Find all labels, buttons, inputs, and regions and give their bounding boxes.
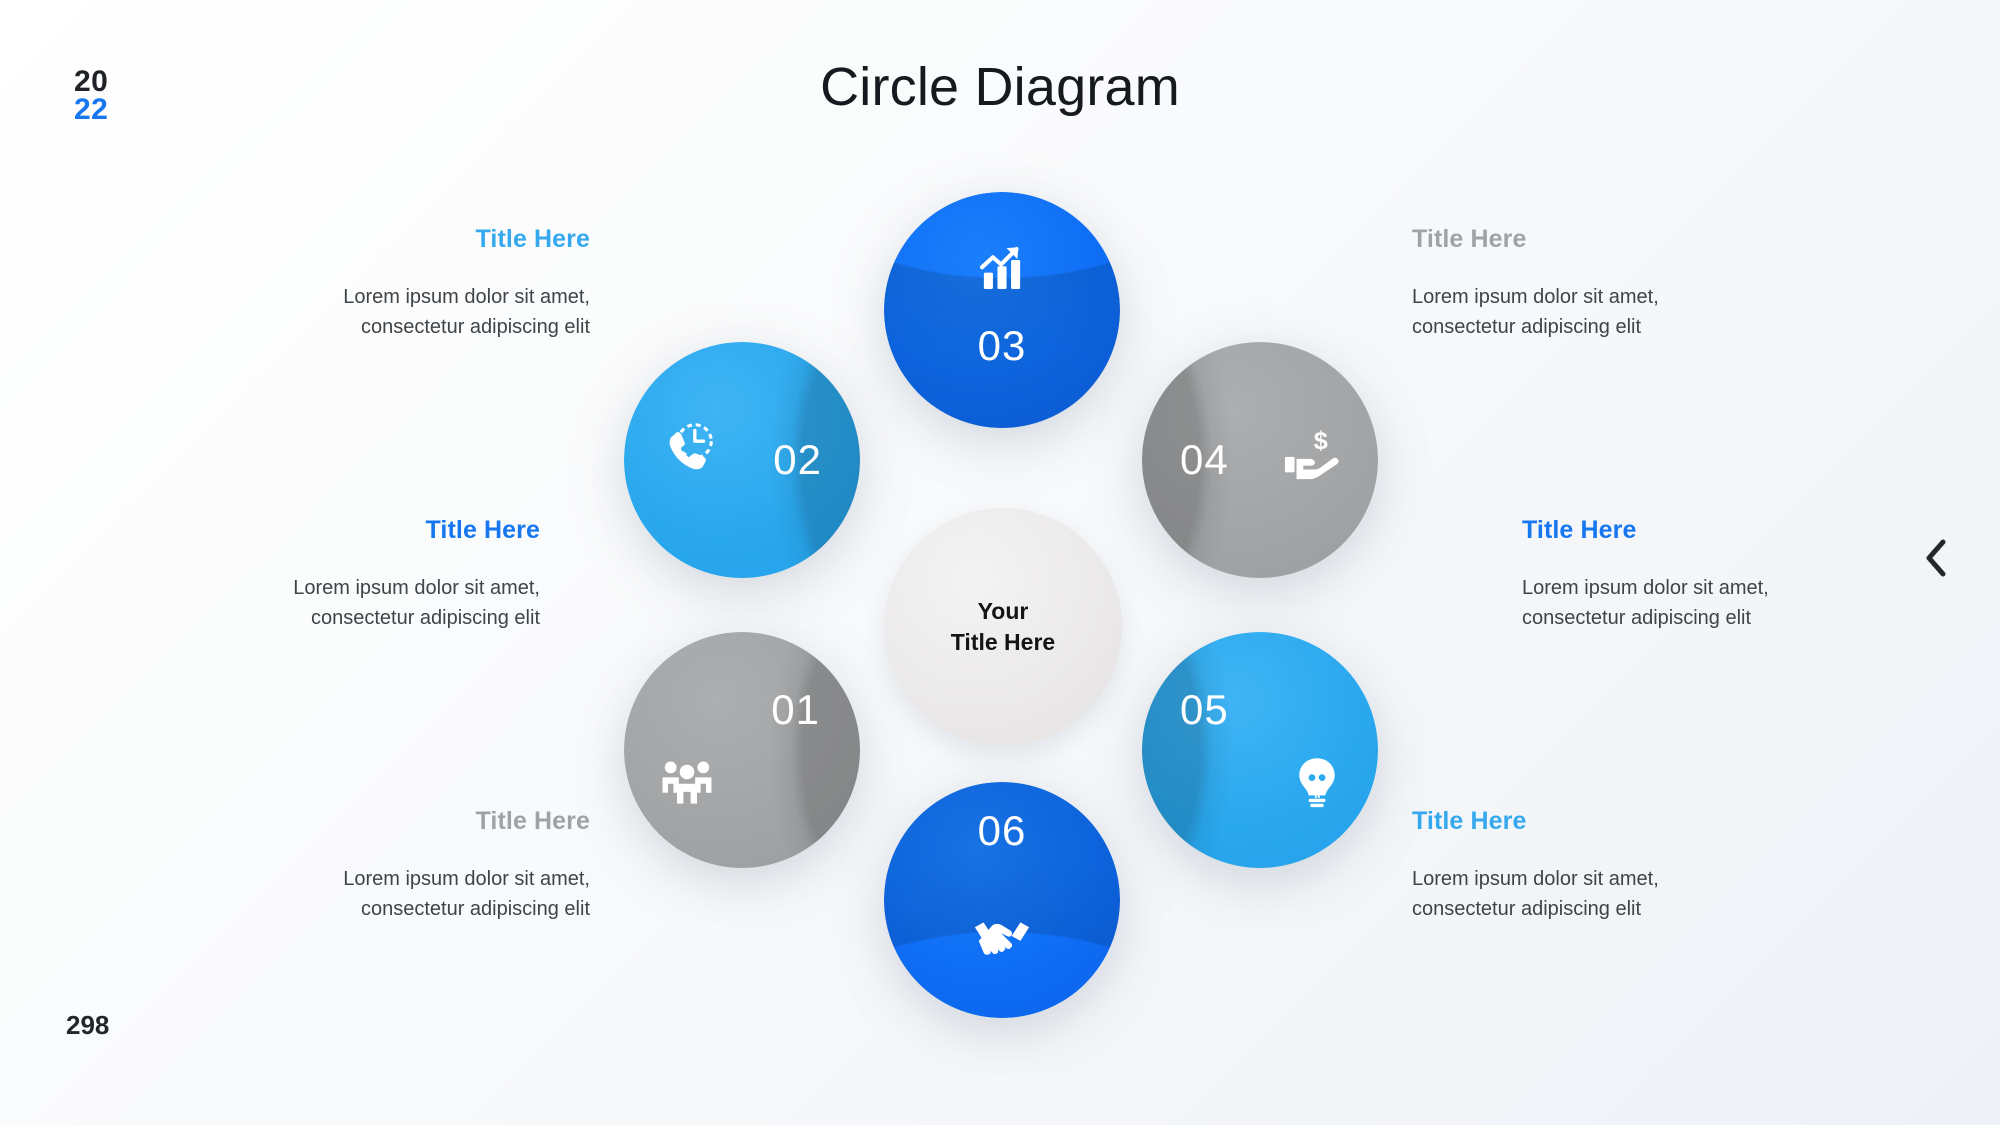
text-block-topleft: Title Here Lorem ipsum dolor sit amet, c…: [290, 225, 590, 343]
text-block-midleft: Title Here Lorem ipsum dolor sit amet, c…: [240, 516, 540, 634]
block-title: Title Here: [1412, 807, 1712, 836]
center-line-2: Title Here: [951, 629, 1055, 655]
circle-node-05[interactable]: 05: [1142, 632, 1378, 868]
block-title: Title Here: [290, 225, 590, 254]
block-body: Lorem ipsum dolor sit amet, consectetur …: [1412, 864, 1712, 925]
node-number: 04: [1180, 436, 1229, 484]
lightbulb-icon: [1290, 754, 1344, 808]
people-group-icon: [658, 752, 716, 810]
block-body: Lorem ipsum dolor sit amet, consectetur …: [240, 573, 540, 634]
node-peel-shadow: [624, 632, 860, 868]
page-title: Circle Diagram: [0, 56, 2000, 118]
circle-node-01[interactable]: 01: [624, 632, 860, 868]
chevron-left-icon[interactable]: [1912, 535, 1958, 581]
node-number: 05: [1180, 686, 1229, 734]
node-peel-shadow: [884, 192, 1120, 428]
center-hub-text: Your Title Here: [951, 596, 1055, 657]
circle-node-04[interactable]: $ 04: [1142, 342, 1378, 578]
svg-text:$: $: [1314, 427, 1328, 455]
growth-chart-icon: [884, 240, 1120, 298]
text-block-midright: Title Here Lorem ipsum dolor sit amet, c…: [1522, 516, 1822, 634]
text-block-bottomright: Title Here Lorem ipsum dolor sit amet, c…: [1412, 807, 1712, 925]
node-number: 02: [773, 436, 822, 484]
node-number: 01: [771, 686, 820, 734]
block-title: Title Here: [290, 807, 590, 836]
handshake-icon: [884, 904, 1120, 966]
node-peel-shadow: [1142, 632, 1378, 868]
phone-clock-icon: [658, 416, 720, 478]
block-body: Lorem ipsum dolor sit amet, consectetur …: [1522, 573, 1822, 634]
circle-node-02[interactable]: 02: [624, 342, 860, 578]
block-body: Lorem ipsum dolor sit amet, consectetur …: [1412, 282, 1712, 343]
center-hub[interactable]: Your Title Here: [884, 508, 1122, 746]
circle-node-03[interactable]: 03: [884, 192, 1120, 428]
block-title: Title Here: [1522, 516, 1822, 545]
circle-node-06[interactable]: 06: [884, 782, 1120, 1018]
text-block-bottomleft: Title Here Lorem ipsum dolor sit amet, c…: [290, 807, 590, 925]
node-number: 03: [884, 322, 1120, 370]
text-block-topright: Title Here Lorem ipsum dolor sit amet, c…: [1412, 225, 1712, 343]
block-body: Lorem ipsum dolor sit amet, consectetur …: [290, 282, 590, 343]
block-body: Lorem ipsum dolor sit amet, consectetur …: [290, 864, 590, 925]
node-number: 06: [884, 807, 1120, 855]
center-line-1: Your: [978, 598, 1029, 624]
page-number: 298: [66, 1010, 109, 1041]
hand-holding-dollar-icon: $: [1282, 422, 1344, 484]
block-title: Title Here: [240, 516, 540, 545]
block-title: Title Here: [1412, 225, 1712, 254]
